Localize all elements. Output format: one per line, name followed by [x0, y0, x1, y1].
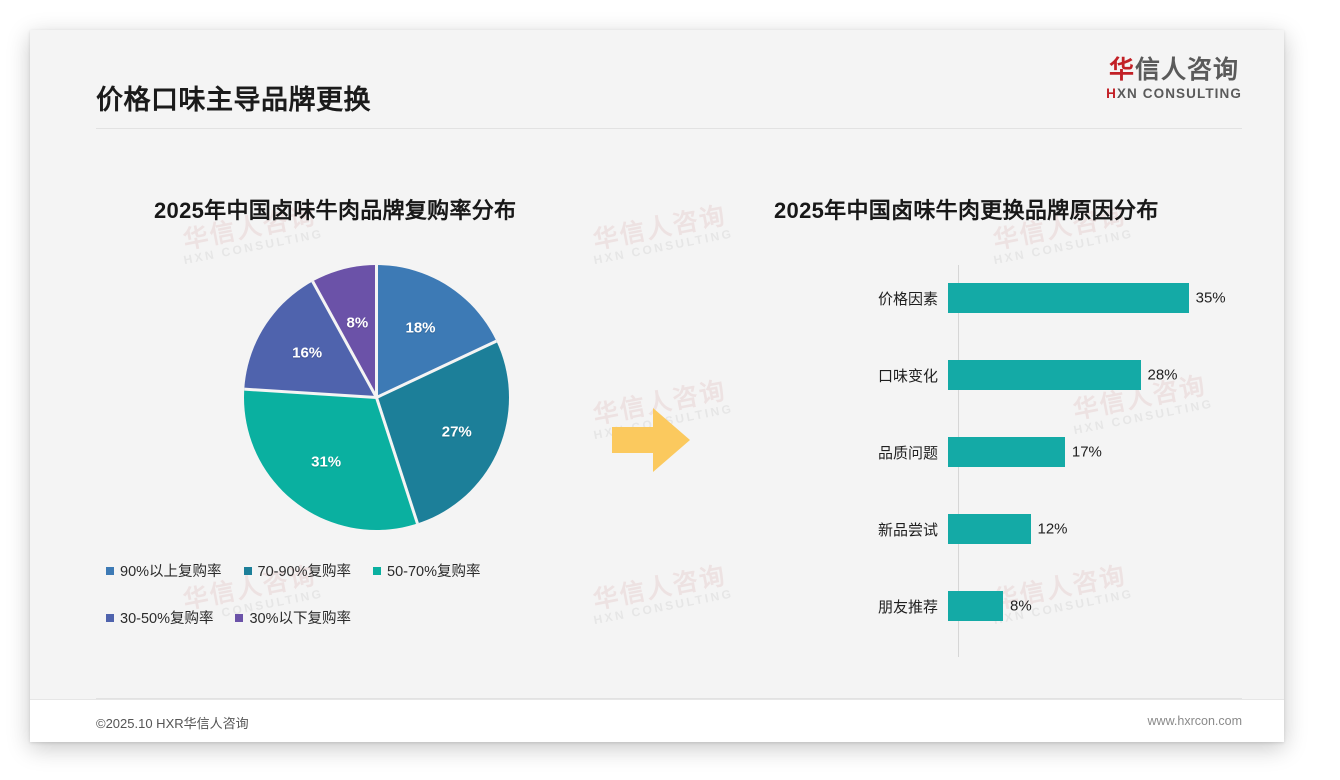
- bar-fill[interactable]: [948, 283, 1189, 313]
- logo-chinese: 华信人咨询: [1106, 57, 1242, 85]
- logo-en-rest: XN CONSULTING: [1117, 86, 1242, 101]
- pie-chart-title: 2025年中国卤味牛肉品牌复购率分布: [154, 193, 516, 225]
- legend-swatch-icon: [106, 614, 114, 622]
- legend-label: 70-90%复购率: [258, 560, 351, 581]
- pie-slice-label: 27%: [442, 424, 472, 441]
- bar-category-label: 新品尝试: [720, 519, 948, 540]
- legend-item[interactable]: 50-70%复购率: [373, 560, 480, 581]
- logo-english: HXN CONSULTING: [1106, 86, 1242, 101]
- pie-chart-panel: 2025年中国卤味牛肉品牌复购率分布 18%27%31%16%8% 90%以上复…: [96, 165, 656, 685]
- bar-chart-title: 2025年中国卤味牛肉更换品牌原因分布: [774, 193, 1159, 225]
- bar-value-label: 12%: [1038, 521, 1068, 538]
- right-arrow-shape: [608, 402, 694, 478]
- bar-value-label: 28%: [1148, 367, 1178, 384]
- page-title: 价格口味主导品牌更换: [96, 78, 371, 117]
- logo-en-red: H: [1106, 86, 1117, 101]
- bar-chart: 价格因素35%口味变化28%品质问题17%新品尝试12%朋友推荐8%: [720, 265, 1280, 665]
- pie-slice-divider: [313, 281, 377, 397]
- bar-chart-panel: 2025年中国卤味牛肉更换品牌原因分布 价格因素35%口味变化28%品质问题17…: [720, 165, 1280, 685]
- legend-item[interactable]: 90%以上复购率: [106, 560, 222, 581]
- pie-chart: 18%27%31%16%8%: [244, 265, 509, 530]
- slide: 华信人咨询HXN CONSULTING华信人咨询HXN CONSULTING华信…: [30, 30, 1284, 742]
- pie-slice-label: 18%: [406, 320, 436, 337]
- bar-fill[interactable]: [948, 514, 1031, 544]
- bar-fill[interactable]: [948, 437, 1065, 467]
- bar-fill[interactable]: [948, 360, 1141, 390]
- legend-item[interactable]: 30%以下复购率: [235, 607, 351, 628]
- header-divider: [96, 128, 1242, 129]
- company-logo: 华信人咨询 HXN CONSULTING: [1106, 57, 1242, 101]
- bar-row: 口味变化28%: [720, 360, 1280, 390]
- legend-swatch-icon: [244, 567, 252, 575]
- pie-slice-label: 8%: [347, 315, 369, 332]
- bar-value-label: 17%: [1072, 444, 1102, 461]
- bar-row: 新品尝试12%: [720, 514, 1280, 544]
- copyright-text: ©2025.10 HXR华信人咨询: [96, 713, 249, 732]
- right-arrow-icon: [608, 402, 694, 478]
- website-link[interactable]: www.hxrcon.com: [1148, 714, 1242, 728]
- slide-footer: ©2025.10 HXR华信人咨询 www.hxrcon.com: [30, 699, 1284, 742]
- pie-slice-label: 16%: [292, 345, 322, 362]
- legend-label: 90%以上复购率: [120, 560, 222, 581]
- bar-category-label: 价格因素: [720, 288, 948, 309]
- logo-cn-red: 华: [1109, 56, 1135, 84]
- legend-swatch-icon: [106, 567, 114, 575]
- bar-row: 品质问题17%: [720, 437, 1280, 467]
- bar-row: 朋友推荐8%: [720, 591, 1280, 621]
- bar-category-label: 口味变化: [720, 365, 948, 386]
- pie-slice-label: 31%: [311, 454, 341, 471]
- bar-fill[interactable]: [948, 591, 1003, 621]
- bar-track: 17%: [948, 437, 1280, 467]
- legend-row-bottom: 30-50%复购率30%以下复购率: [106, 607, 651, 654]
- bar-category-label: 朋友推荐: [720, 596, 948, 617]
- legend-item[interactable]: 70-90%复购率: [244, 560, 351, 581]
- bar-value-label: 35%: [1196, 290, 1226, 307]
- legend-swatch-icon: [373, 567, 381, 575]
- legend-item[interactable]: 30-50%复购率: [106, 607, 213, 628]
- pie-legend: 90%以上复购率70-90%复购率50-70%复购率 30-50%复购率30%以…: [106, 560, 651, 654]
- legend-row-top: 90%以上复购率70-90%复购率50-70%复购率: [106, 560, 651, 607]
- bar-track: 12%: [948, 514, 1280, 544]
- pie-slice-divider: [377, 398, 418, 524]
- legend-swatch-icon: [235, 614, 243, 622]
- pie-slice-divider: [377, 341, 497, 397]
- bar-row: 价格因素35%: [720, 283, 1280, 313]
- bar-track: 8%: [948, 591, 1280, 621]
- slide-header: 价格口味主导品牌更换 华信人咨询 HXN CONSULTING: [30, 30, 1284, 126]
- logo-cn-rest: 信人咨询: [1135, 56, 1239, 84]
- legend-label: 30-50%复购率: [120, 607, 213, 628]
- bar-track: 28%: [948, 360, 1280, 390]
- pie-slice-divider: [244, 389, 376, 397]
- legend-label: 50-70%复购率: [387, 560, 480, 581]
- bar-category-label: 品质问题: [720, 442, 948, 463]
- pie-separators: [244, 265, 509, 530]
- bar-track: 35%: [948, 283, 1280, 313]
- bar-value-label: 8%: [1010, 598, 1032, 615]
- legend-label: 30%以下复购率: [249, 607, 351, 628]
